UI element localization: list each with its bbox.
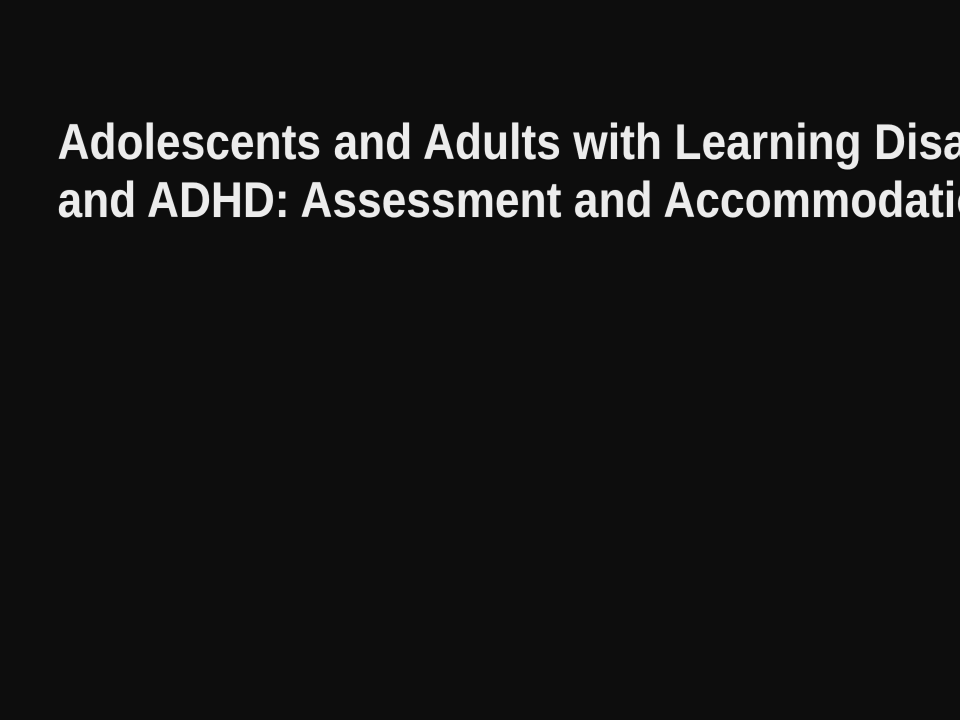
cover-canvas: Adolescents and Adults with Learning Dis… bbox=[0, 0, 960, 720]
page-title: Adolescents and Adults with Learning Dis… bbox=[0, 114, 960, 228]
title-line-1: Adolescents and Adults with Learning Dis… bbox=[58, 114, 903, 170]
title-line-2: and ADHD: Assessment and Accommodation bbox=[58, 172, 903, 228]
empty-lower-field bbox=[0, 240, 960, 720]
